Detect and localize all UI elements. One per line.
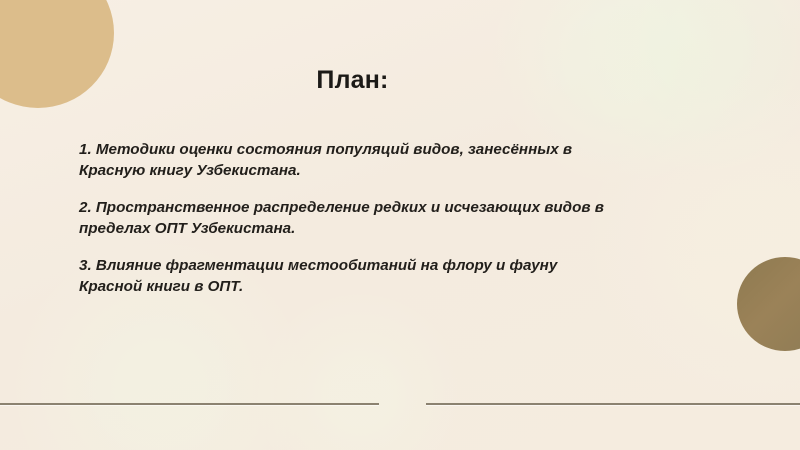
divider-line-right — [426, 403, 800, 405]
list-item: 2. Пространственное распределение редких… — [79, 197, 609, 239]
list-item: 1. Методики оценки состояния популяций в… — [79, 139, 609, 181]
page-title: План: — [0, 66, 705, 95]
presentation-slide: План: 1. Методики оценки состояния попул… — [0, 0, 800, 450]
decorative-circle-right — [737, 257, 800, 351]
divider-line-left — [0, 403, 379, 405]
plan-list: 1. Методики оценки состояния популяций в… — [79, 139, 609, 297]
list-item: 3. Влияние фрагментации местообитаний на… — [79, 255, 609, 297]
